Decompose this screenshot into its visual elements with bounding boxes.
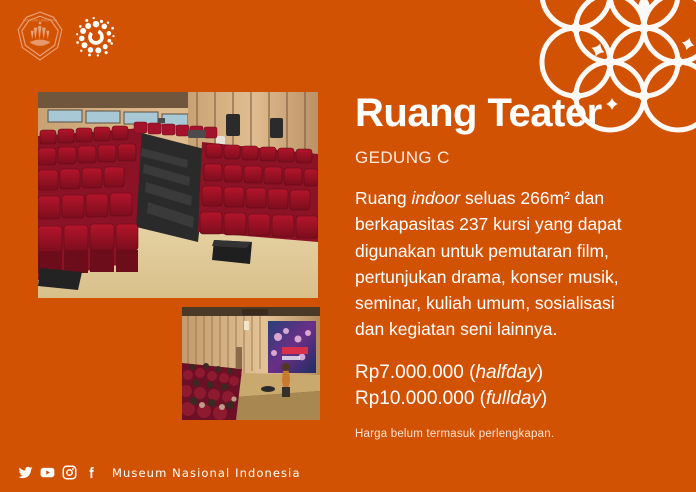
facebook-icon[interactable] xyxy=(84,465,99,480)
youtube-icon[interactable] xyxy=(40,465,55,480)
instagram-icon[interactable] xyxy=(62,465,77,480)
poster-canvas: TUT WURI HANDAYANI xyxy=(0,0,696,492)
desc-part-1: Ruang xyxy=(355,188,411,208)
logo-row: TUT WURI HANDAYANI xyxy=(14,10,134,62)
price-amount-halfday: Rp7.000.000 xyxy=(355,362,464,383)
price-row-halfday: Rp7.000.000 (halfday) xyxy=(355,360,655,386)
price-list: Rp7.000.000 (halfday) Rp10.000.000 (full… xyxy=(355,360,655,412)
content-column: Ruang Teater GEDUNG C Ruang indoor selua… xyxy=(355,92,655,440)
desc-part-3: seluas 266m² dan berkapasitas 237 kursi … xyxy=(355,188,622,339)
price-label-fullday: fullday xyxy=(486,388,541,409)
theater-event-photo xyxy=(182,307,320,420)
page-title: Ruang Teater xyxy=(355,92,655,134)
account-name: Museum Nasional Indonesia xyxy=(112,466,301,480)
tut-wuri-handayani-logo: TUT WURI HANDAYANI xyxy=(14,10,66,62)
desc-part-italic: indoor xyxy=(411,188,460,208)
museum-nasional-indonesia-logo xyxy=(72,14,120,60)
svg-text:TUT WURI HANDAYANI: TUT WURI HANDAYANI xyxy=(22,18,58,22)
twitter-icon[interactable] xyxy=(18,465,33,480)
price-note: Harga belum termasuk perlengkapan. xyxy=(355,428,655,440)
price-amount-fullday: Rp10.000.000 xyxy=(355,388,474,409)
price-label-halfday: halfday xyxy=(475,362,536,383)
theater-seats-photo xyxy=(38,92,318,298)
social-footer: Museum Nasional Indonesia xyxy=(18,465,301,480)
room-description: Ruang indoor seluas 266m² dan berkapasit… xyxy=(355,185,637,343)
building-subtitle: GEDUNG C xyxy=(355,148,655,168)
price-row-fullday: Rp10.000.000 (fullday) xyxy=(355,386,655,412)
